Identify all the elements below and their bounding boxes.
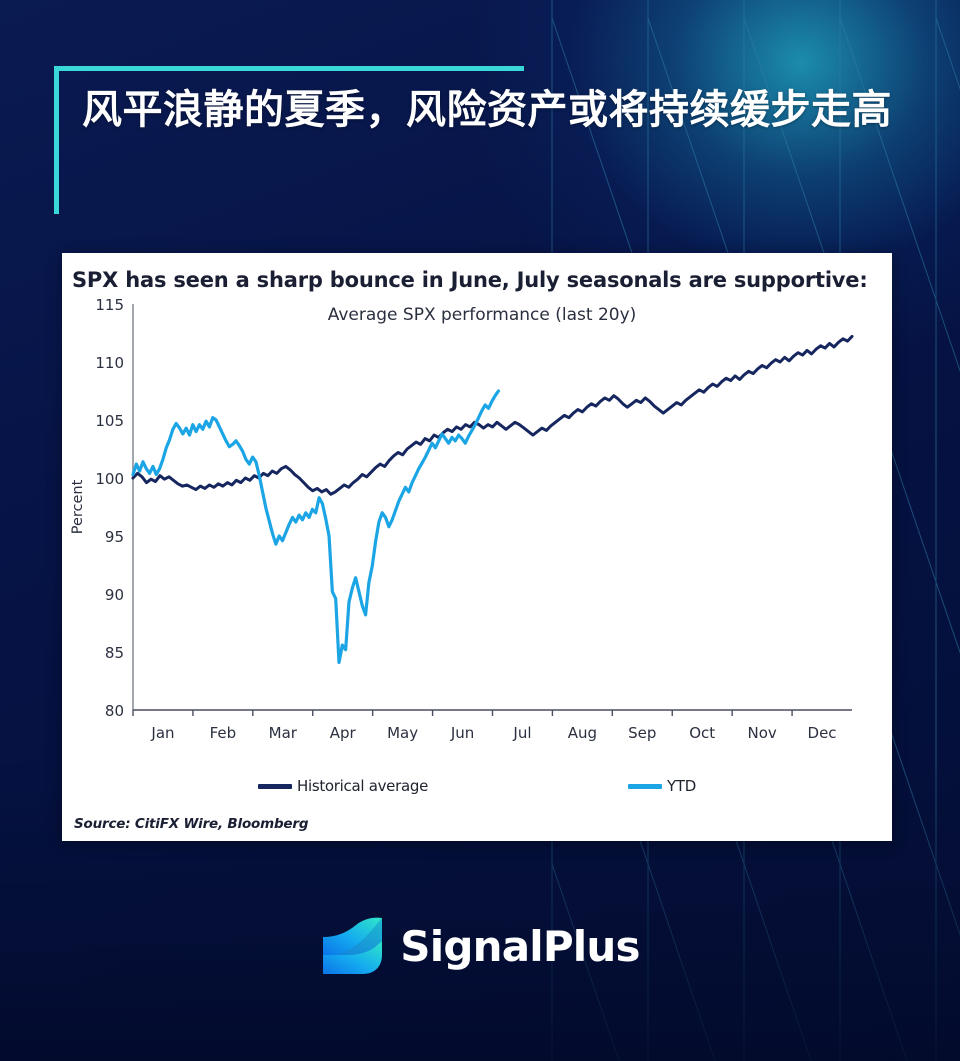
chart-axes <box>133 304 852 710</box>
chart-source-note: Source: CitiFX Wire, Bloomberg <box>74 816 308 832</box>
x-tick-label: Nov <box>747 724 776 742</box>
x-axis-ticks: JanFebMarAprMayJunJulAugSepOctNovDec <box>133 710 837 742</box>
y-axis-ticks: 80859095100105110115 <box>95 296 124 720</box>
chart-title: Average SPX performance (last 20y) <box>328 305 637 325</box>
page-title: 风平浪静的夏季，风险资产或将持续缓步走高 <box>46 66 926 139</box>
chart-card: SPX has seen a sharp bounce in June, Jul… <box>62 253 892 841</box>
x-tick-label: Feb <box>210 724 237 742</box>
legend-label-historical-average: Historical average <box>297 777 428 795</box>
x-tick-label: Mar <box>269 724 298 742</box>
legend-swatch-cyan <box>628 784 662 789</box>
chart-series-line-historical-average <box>133 336 852 494</box>
y-axis-label: Percent <box>70 479 86 534</box>
legend-swatch-navy <box>258 784 292 789</box>
y-tick-label: 95 <box>105 528 124 546</box>
brand-footer: SignalPlus <box>0 915 960 977</box>
x-tick-label: Sep <box>628 724 656 742</box>
chart-card-heading: SPX has seen a sharp bounce in June, Jul… <box>62 253 892 292</box>
x-tick-label: Apr <box>330 724 357 742</box>
chart-plot-area: Average SPX performance (last 20y) Perce… <box>62 292 892 762</box>
x-tick-label: May <box>387 724 418 742</box>
chart-series-group <box>133 336 852 662</box>
y-tick-label: 105 <box>95 412 124 430</box>
x-tick-label: Aug <box>568 724 597 742</box>
chart-legend: Historical average YTD <box>62 773 892 799</box>
x-tick-label: Jul <box>512 724 531 742</box>
y-tick-label: 100 <box>95 470 124 488</box>
x-tick-label: Jan <box>150 724 174 742</box>
headline-block: 风平浪静的夏季，风险资产或将持续缓步走高 <box>46 66 926 139</box>
y-tick-label: 85 <box>105 644 124 662</box>
x-tick-label: Jun <box>450 724 474 742</box>
x-tick-label: Oct <box>689 724 715 742</box>
y-tick-label: 80 <box>105 702 124 720</box>
legend-item-historical-average: Historical average <box>258 777 428 795</box>
legend-item-ytd: YTD <box>628 777 696 795</box>
spx-performance-line-chart: Average SPX performance (last 20y) Perce… <box>62 292 892 762</box>
signalplus-ribbon-icon <box>320 915 386 977</box>
legend-label-ytd: YTD <box>667 777 696 795</box>
y-tick-label: 110 <box>95 354 124 372</box>
y-tick-label: 90 <box>105 586 124 604</box>
x-tick-label: Dec <box>808 724 837 742</box>
y-tick-label: 115 <box>95 296 124 314</box>
brand-wordmark: SignalPlus <box>400 922 639 971</box>
